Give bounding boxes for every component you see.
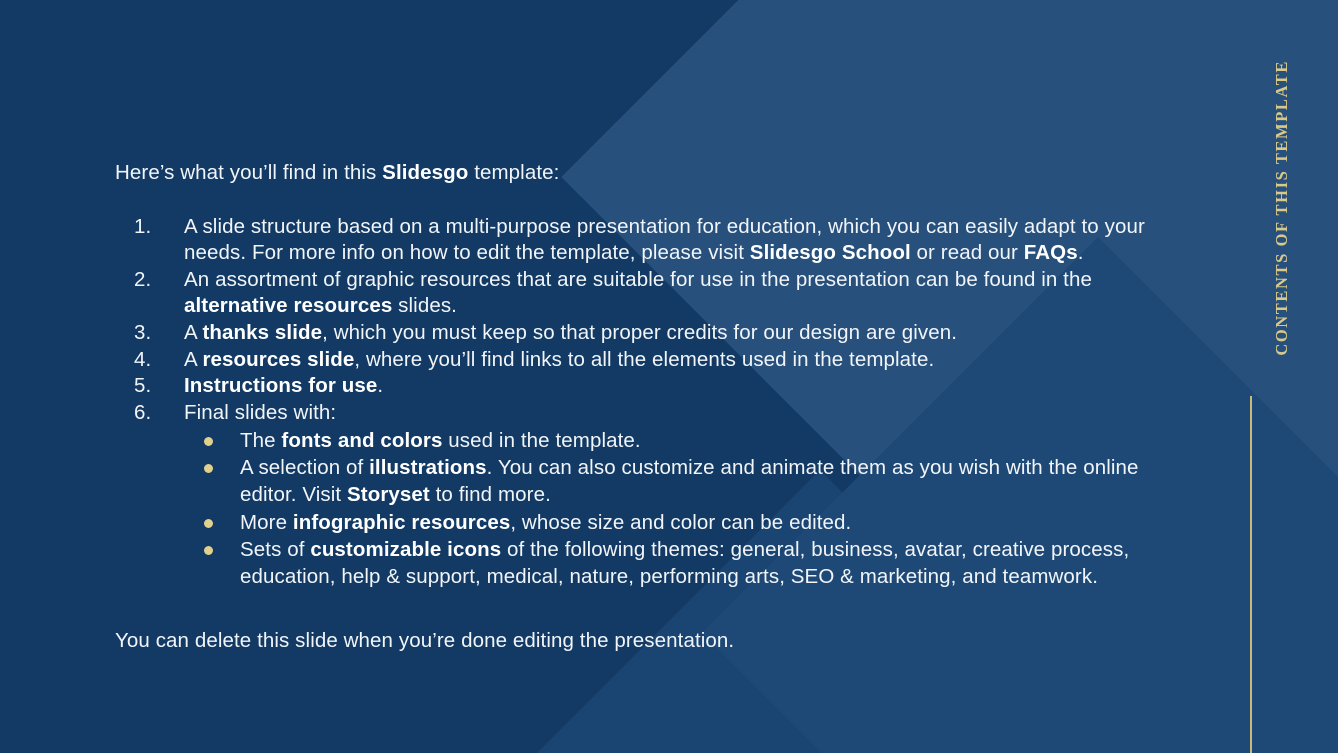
text-run-bold: Instructions for use <box>184 374 377 397</box>
text-run: More <box>240 511 293 534</box>
text-run-bold: thanks slide <box>202 321 322 344</box>
sub-bullet-item: More infographic resources, whose size a… <box>184 510 1187 537</box>
text-run: , whose size and color can be edited. <box>510 511 851 534</box>
intro-brand: Slidesgo <box>382 161 468 184</box>
outro-paragraph: You can delete this slide when you’re do… <box>115 627 1187 654</box>
numbered-list: A slide structure based on a multi-purpo… <box>115 214 1187 591</box>
slide-content: Here’s what you’ll find in this Slidesgo… <box>115 138 1187 674</box>
text-run-bold: FAQs <box>1024 241 1078 264</box>
text-run: , where you’ll find links to all the ele… <box>354 348 934 371</box>
numbered-list-item: An assortment of graphic resources that … <box>115 267 1187 320</box>
text-run-bold: resources slide <box>202 348 354 371</box>
numbered-list-item: A slide structure based on a multi-purpo… <box>115 214 1187 267</box>
numbered-list-item: A resources slide, where you’ll find lin… <box>115 347 1187 374</box>
text-run-bold: Storyset <box>347 483 430 506</box>
right-rail: CONTENTS OF THIS TEMPLATE <box>1225 0 1338 753</box>
text-run-bold: illustrations <box>369 456 486 479</box>
text-run: slides. <box>392 294 457 317</box>
text-run: A <box>184 321 202 344</box>
text-run: . <box>1078 241 1084 264</box>
text-run: An assortment of graphic resources that … <box>184 268 1092 291</box>
sub-bullet-item: The fonts and colors used in the templat… <box>184 428 1187 455</box>
text-run-bold: customizable icons <box>310 538 501 561</box>
intro-paragraph: Here’s what you’ll find in this Slidesgo… <box>115 159 1187 186</box>
sub-bullet-item: Sets of customizable icons of the follow… <box>184 537 1187 590</box>
text-run: A <box>184 348 202 371</box>
numbered-list-item: Final slides with:The fonts and colors u… <box>115 400 1187 590</box>
text-run-bold: Slidesgo School <box>750 241 911 264</box>
text-run: used in the template. <box>442 429 640 452</box>
numbered-list-item: Instructions for use. <box>115 373 1187 400</box>
rail-divider-line <box>1250 396 1252 753</box>
text-run-bold: fonts and colors <box>281 429 442 452</box>
intro-prefix: Here’s what you’ll find in this <box>115 161 382 184</box>
rail-title: CONTENTS OF THIS TEMPLATE <box>1272 60 1292 356</box>
text-run: A selection of <box>240 456 369 479</box>
text-run-bold: alternative resources <box>184 294 392 317</box>
text-run: or read our <box>911 241 1024 264</box>
text-run-bold: infographic resources <box>293 511 510 534</box>
text-run: Sets of <box>240 538 310 561</box>
presentation-slide: Here’s what you’ll find in this Slidesgo… <box>0 0 1338 753</box>
intro-suffix: template: <box>468 161 559 184</box>
text-run: Final slides with: <box>184 401 336 424</box>
text-run: The <box>240 429 281 452</box>
text-run: . <box>377 374 383 397</box>
sub-bullet-list: The fonts and colors used in the templat… <box>184 428 1187 591</box>
text-run: to find more. <box>430 483 551 506</box>
text-run: , which you must keep so that proper cre… <box>322 321 957 344</box>
numbered-list-item: A thanks slide, which you must keep so t… <box>115 320 1187 347</box>
sub-bullet-item: A selection of illustrations. You can al… <box>184 455 1187 508</box>
